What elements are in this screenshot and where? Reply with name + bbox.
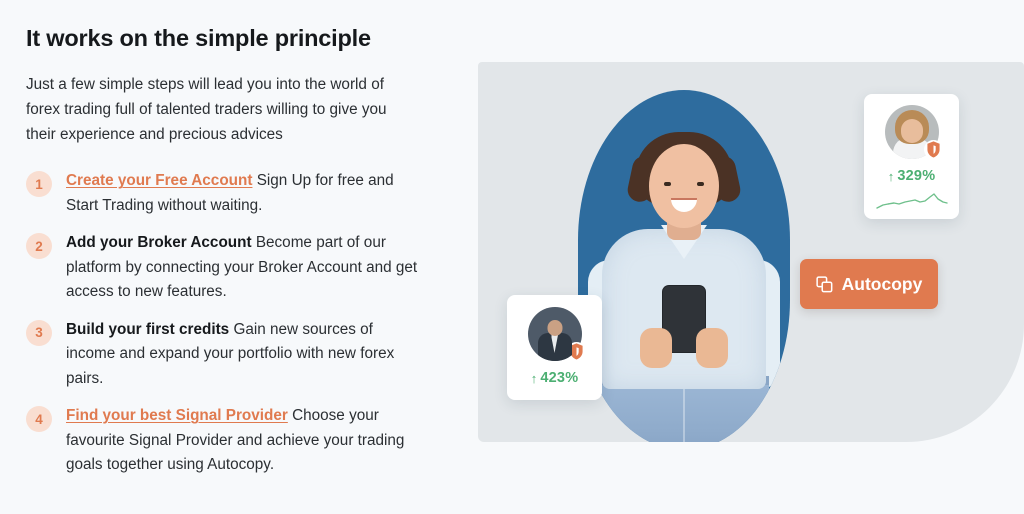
step-lead: Build your first credits	[66, 321, 229, 338]
stat-percent: 329%	[897, 168, 935, 184]
avatar	[528, 307, 582, 361]
left-hand	[640, 328, 672, 368]
autocopy-button[interactable]: Autocopy	[800, 259, 938, 309]
step-lead-link[interactable]: Find your best Signal Provider	[66, 407, 288, 424]
stat-value: ↑ 329%	[888, 168, 936, 184]
right-hand	[696, 328, 728, 368]
list-item: 3 Build your first credits Gain new sour…	[26, 318, 446, 391]
left-eye	[664, 182, 671, 186]
step-number-badge: 3	[26, 320, 52, 346]
avatar	[885, 105, 939, 159]
avatar-hair	[895, 110, 929, 144]
intro-paragraph: Just a few simple steps will lead you in…	[26, 52, 408, 147]
list-item: 4 Find your best Signal Provider Choose …	[26, 404, 446, 477]
step-lead: Add your Broker Account	[66, 234, 252, 251]
step-text: Create your Free Account Sign Up for fre…	[52, 169, 424, 218]
content-column: It works on the simple principle Just a …	[26, 0, 446, 514]
stat-card[interactable]: ↑ 423%	[507, 295, 602, 400]
copy-icon	[816, 276, 833, 293]
person-photo	[578, 90, 790, 442]
shield-icon	[924, 139, 943, 160]
autocopy-label: Autocopy	[842, 274, 923, 295]
steps-list: 1 Create your Free Account Sign Up for f…	[26, 147, 446, 477]
list-item: 2 Add your Broker Account Become part of…	[26, 231, 446, 304]
step-number-badge: 1	[26, 171, 52, 197]
sparkline-chart	[875, 191, 949, 211]
step-number-badge: 2	[26, 233, 52, 259]
stat-value: ↑ 423%	[531, 370, 579, 386]
step-lead-link[interactable]: Create your Free Account	[66, 172, 252, 189]
page-title: It works on the simple principle	[26, 0, 446, 52]
arrow-up-icon: ↑	[888, 170, 895, 183]
right-eye	[697, 182, 704, 186]
hero-panel: ↑ 329% ↑ 423% Autocopy	[478, 62, 1024, 442]
avatar-suit	[538, 333, 572, 361]
step-text: Add your Broker Account Become part of o…	[52, 231, 424, 304]
step-number-badge: 4	[26, 406, 52, 432]
list-item: 1 Create your Free Account Sign Up for f…	[26, 169, 446, 218]
stat-card[interactable]: ↑ 329%	[864, 94, 959, 219]
step-text: Find your best Signal Provider Choose yo…	[52, 404, 424, 477]
step-text: Build your first credits Gain new source…	[52, 318, 424, 391]
arrow-up-icon: ↑	[531, 372, 538, 385]
stat-percent: 423%	[540, 370, 578, 386]
